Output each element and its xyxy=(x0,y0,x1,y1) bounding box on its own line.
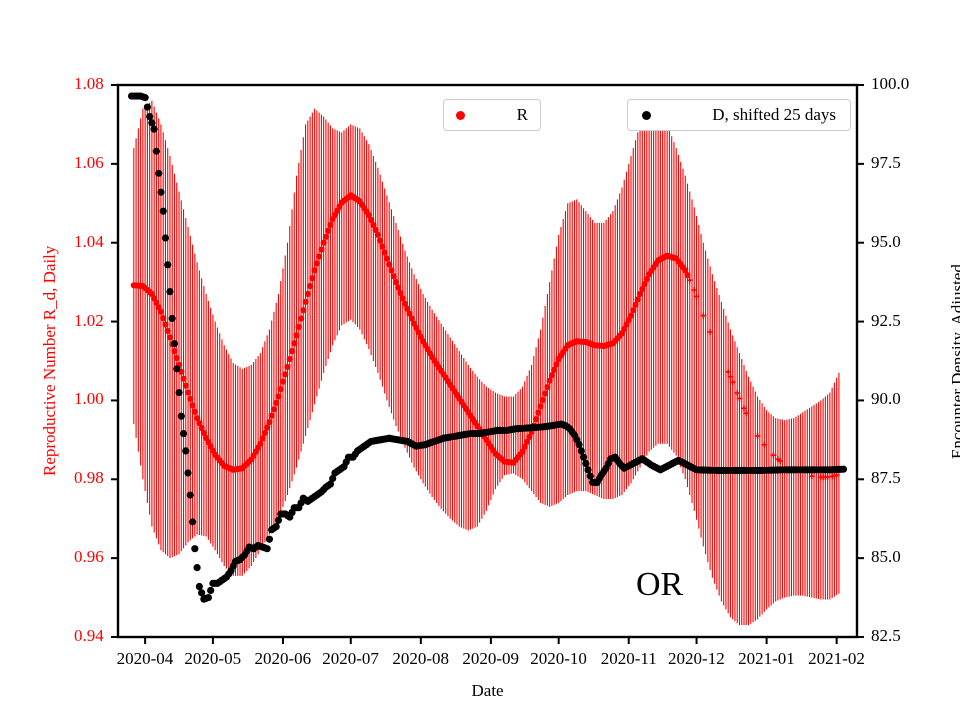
left-tick-0.98: 0.98 xyxy=(74,468,104,488)
legend-label-d: D, shifted 25 days xyxy=(712,105,836,125)
right-tick-87.5: 87.5 xyxy=(871,468,901,488)
left-tick-1.08: 1.08 xyxy=(74,74,104,94)
right-tick-95.0: 95.0 xyxy=(871,232,901,252)
x-axis-title: Date xyxy=(472,681,504,701)
x-tick-2020-09: 2020-09 xyxy=(462,649,519,669)
legend-entry-d[interactable]: D, shifted 25 days xyxy=(627,99,851,131)
right-tick-100.0: 100.0 xyxy=(871,74,909,94)
x-tick-2020-07: 2020-07 xyxy=(322,649,379,669)
x-tick-2020-08: 2020-08 xyxy=(392,649,449,669)
left-tick-1.02: 1.02 xyxy=(74,311,104,331)
right-tick-85.0: 85.0 xyxy=(871,547,901,567)
legend-marker-d-dot xyxy=(642,111,651,120)
x-tick-2020-05: 2020-05 xyxy=(184,649,241,669)
right-tick-92.5: 92.5 xyxy=(871,311,901,331)
x-tick-2020-06: 2020-06 xyxy=(254,649,311,669)
right-tick-90.0: 90.0 xyxy=(871,389,901,409)
x-tick-2020-11: 2020-11 xyxy=(601,649,657,669)
right-axis-title: Encounter Density, Adjusted xyxy=(948,264,960,459)
x-tick-2021-02: 2021-02 xyxy=(808,649,865,669)
legend-entry-r[interactable]: R xyxy=(443,99,541,131)
x-tick-2020-04: 2020-04 xyxy=(117,649,174,669)
left-tick-0.96: 0.96 xyxy=(74,547,104,567)
right-tick-97.5: 97.5 xyxy=(871,153,901,173)
left-tick-1.04: 1.04 xyxy=(74,232,104,252)
left-axis-title: Reproductive Number R_d, Daily xyxy=(40,246,60,476)
x-tick-2020-12: 2020-12 xyxy=(668,649,725,669)
right-tick-82.5: 82.5 xyxy=(871,626,901,646)
left-tick-0.94: 0.94 xyxy=(74,626,104,646)
left-tick-1.06: 1.06 xyxy=(74,153,104,173)
legend-label-r: R xyxy=(517,105,528,125)
legend-marker-r-dot xyxy=(456,111,465,120)
x-tick-2021-01: 2021-01 xyxy=(738,649,795,669)
region-annotation: OR xyxy=(636,566,683,604)
x-tick-2020-10: 2020-10 xyxy=(530,649,587,669)
left-tick-1.00: 1.00 xyxy=(74,389,104,409)
